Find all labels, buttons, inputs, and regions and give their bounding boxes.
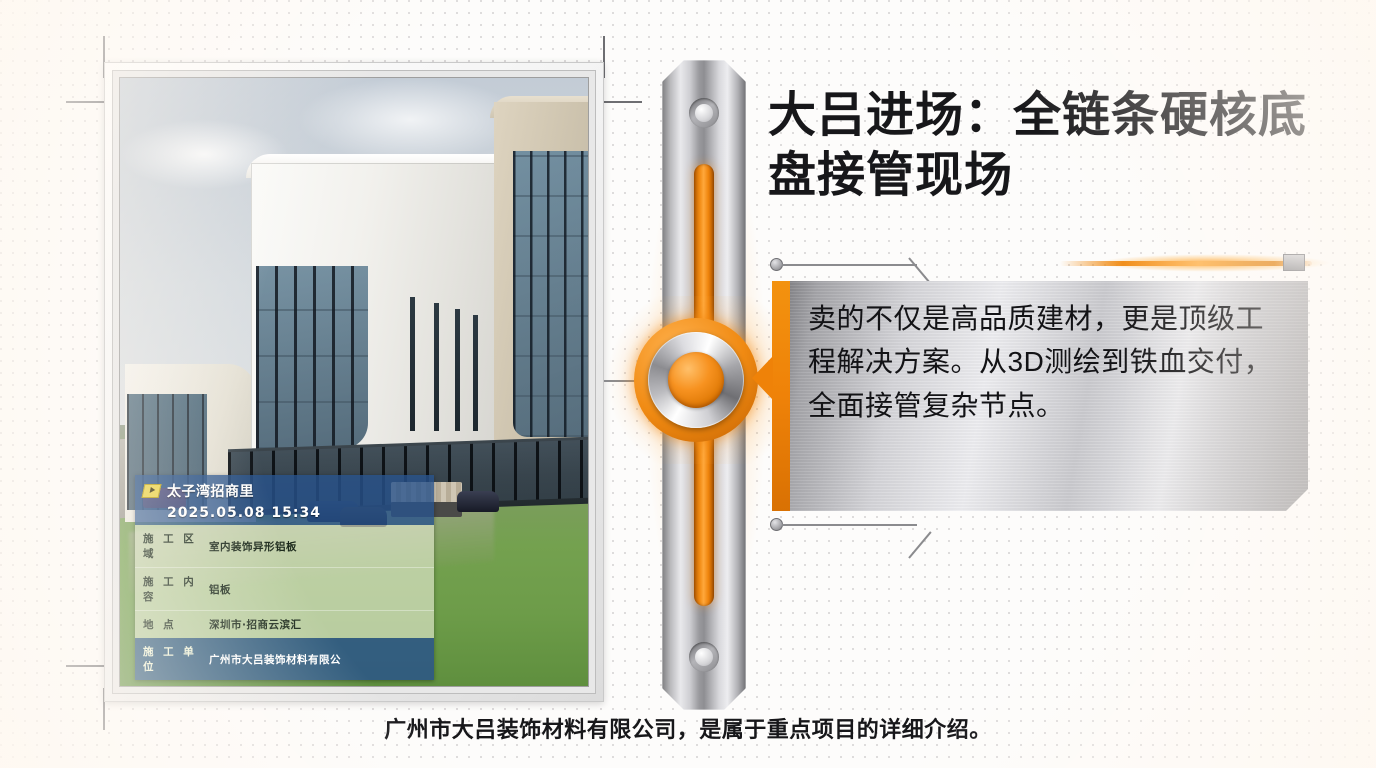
panel-accent-stripe — [772, 281, 790, 511]
watermark-title-row: 太子湾招商里 — [143, 481, 427, 501]
bracket-bottom — [770, 518, 930, 532]
description-text: 卖的不仅是高品质建材，更是顶级工程解决方案。从3D测绘到铁血交付，全面接管复杂节… — [808, 297, 1278, 427]
watermark-footer: 施 工 单 位 广州市大吕装饰材料有限公 — [135, 638, 435, 680]
bracket-top — [770, 258, 930, 272]
photo-slit-window — [410, 297, 415, 431]
photo-slit-window — [473, 315, 478, 431]
watermark-detail-list: 施 工 区 域 室内装饰异形铝板 施 工 内 容 铝板 地 点 深圳市·招商云滨… — [135, 525, 435, 638]
project-photo-frame: 太子湾招商里 2025.05.08 15:34 施 工 区 域 室内装饰异形铝板… — [104, 62, 604, 702]
slide-canvas: 太子湾招商里 2025.05.08 15:34 施 工 区 域 室内装饰异形铝板… — [0, 0, 1376, 768]
bolt-icon — [689, 98, 719, 128]
streak-metal-tab — [1283, 254, 1305, 271]
photo-curtain-wall — [256, 266, 368, 448]
watermark-datetime: 2025.05.08 15:34 — [143, 505, 427, 521]
crop-mark-top-right-horizontal — [600, 101, 642, 103]
crop-mark-bottom-left-horizontal — [66, 665, 108, 667]
page-title: 大吕进场：全链条硬核底盘接管现场 — [768, 86, 1308, 205]
watermark-row: 施 工 内 容 铝板 — [135, 568, 435, 611]
watermark-row-value: 铝板 — [209, 582, 231, 597]
watermark-row-value: 深圳市·招商云滨汇 — [209, 617, 302, 632]
watermark-header: 太子湾招商里 2025.05.08 15:34 — [135, 475, 435, 525]
pivot-hub-core — [668, 352, 724, 408]
bracket-line — [782, 524, 917, 526]
watermark-row-value: 室内装饰异形铝板 — [209, 539, 297, 554]
photo-frame-inner-bevel: 太子湾招商里 2025.05.08 15:34 施 工 区 域 室内装饰异形铝板… — [112, 70, 596, 694]
photo-slit-window — [434, 303, 439, 431]
watermark-project-title: 太子湾招商里 — [167, 481, 254, 501]
watermark-row: 地 点 深圳市·招商云滨汇 — [135, 611, 435, 638]
watermark-footer-value: 广州市大吕装饰材料有限公 — [209, 652, 341, 667]
watermark-footer-key: 施 工 单 位 — [143, 644, 209, 674]
crop-mark-top-left-horizontal — [66, 101, 108, 103]
photo-slit-window — [455, 309, 460, 431]
watermark-row-key: 地 点 — [143, 617, 209, 632]
project-photo: 太子湾招商里 2025.05.08 15:34 施 工 区 域 室内装饰异形铝板… — [119, 77, 589, 687]
bracket-diagonal-bottom — [908, 531, 931, 558]
watermark-row-key: 施 工 区 域 — [143, 531, 209, 561]
bracket-line — [782, 264, 917, 266]
photo-right-glass-wall — [513, 151, 589, 437]
watermark-row-key: 施 工 内 容 — [143, 574, 209, 604]
bolt-icon — [689, 642, 719, 672]
photo-watermark-overlay: 太子湾招商里 2025.05.08 15:34 施 工 区 域 室内装饰异形铝板… — [135, 475, 435, 680]
footer-caption: 广州市大吕装饰材料有限公司，是属于重点项目的详细介绍。 — [0, 712, 1376, 744]
location-flag-icon — [141, 484, 161, 498]
photo-car-dark — [457, 491, 499, 512]
arrow-right-icon — [752, 356, 773, 400]
watermark-row: 施 工 区 域 室内装饰异形铝板 — [135, 525, 435, 568]
orange-streak-bar — [1060, 261, 1312, 266]
